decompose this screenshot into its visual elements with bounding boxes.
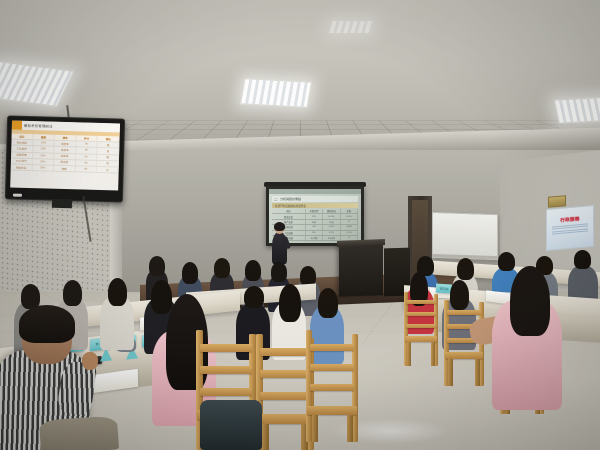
chair-slat xyxy=(310,384,354,391)
tv-cell: 良 xyxy=(97,161,119,167)
slide-cell: 36小時 xyxy=(323,236,340,240)
slide-band-text: 各部門年度績效指標彙整表 xyxy=(272,204,306,208)
attendee-hair xyxy=(182,262,198,284)
chair-leg xyxy=(312,415,318,442)
tv-cell: 20% xyxy=(33,140,55,146)
chair-slat xyxy=(200,388,252,396)
tv-cell: 考核項目 xyxy=(11,140,33,146)
attendee-hair xyxy=(457,258,474,280)
slide-cell: 項目 xyxy=(272,209,306,213)
tv-cell: 15% xyxy=(33,153,55,159)
attendee-hair xyxy=(318,288,338,318)
ceiling-light-panel xyxy=(554,96,600,123)
tv-cell: 可 xyxy=(97,167,119,173)
tv-cell: 85 xyxy=(76,148,98,154)
attendee-hair xyxy=(245,260,261,281)
tv-cell: 時數 xyxy=(54,166,76,172)
slide-cell: 實際達成 xyxy=(323,209,340,213)
tv-header-cell: 項目 xyxy=(12,134,34,140)
attendee-hair xyxy=(244,286,264,308)
slide-cell: 差異 xyxy=(341,209,358,213)
attendee-hair xyxy=(271,262,287,282)
attendee-hair xyxy=(19,305,75,343)
chair-slat xyxy=(406,312,436,316)
tv-cell: 學習成長 xyxy=(11,164,33,170)
tv-cell: 合格率 xyxy=(54,147,76,153)
slide-cell: 本期目標 xyxy=(306,209,323,213)
tv-header-cell: 備註 xyxy=(98,136,120,142)
chair-leg xyxy=(347,415,353,442)
tv-cell: 80 xyxy=(75,166,97,172)
slide-title-row: 二、分析與檢討重點 xyxy=(272,196,358,202)
tv-cell: 25% xyxy=(33,146,55,152)
tv-cell: 工作品質 xyxy=(11,146,33,152)
tv-cell: 配合度 xyxy=(54,159,76,165)
bag xyxy=(200,400,262,450)
ceiling-light-panel xyxy=(240,78,312,108)
slide-header-band xyxy=(269,189,361,194)
chair-slat xyxy=(406,324,436,328)
slide-cell: +2 xyxy=(341,220,358,224)
chair-leg xyxy=(407,342,411,366)
attendee-hair xyxy=(149,256,165,276)
chair-slat xyxy=(200,344,252,352)
chair-slat xyxy=(310,344,354,351)
tv-cell: 20% xyxy=(32,165,54,171)
slide-cell: 92分 xyxy=(323,220,340,224)
chair-seat xyxy=(445,352,483,359)
slide-cell: 9.1% xyxy=(323,231,340,235)
attendee-hair xyxy=(510,266,550,336)
tv-cell: 88 xyxy=(76,160,98,166)
ceiling-light-panel xyxy=(0,61,74,107)
tv-cell: 優 xyxy=(97,154,119,160)
chair-leg xyxy=(431,342,435,366)
slide-cell: -1.5% xyxy=(341,214,358,218)
slide-cell: 8% xyxy=(306,231,323,235)
attendee-hair xyxy=(279,284,301,322)
classroom-photo-scene: 績效考核管理辦法 項目 權重 標準 評分 備註 考核項目 20% 達成率 90 … xyxy=(0,0,600,450)
attendee-hair xyxy=(574,250,591,269)
attendee-hair xyxy=(214,258,230,278)
tv-slide-title: 績效考核管理辦法 xyxy=(12,123,53,129)
chair-slat xyxy=(310,364,354,371)
tv-screen: 績效考核管理辦法 項目 權重 標準 評分 備註 考核項目 20% 達成率 90 … xyxy=(10,121,120,191)
tv-cell: 出勤紀律 xyxy=(11,152,33,158)
slide-cell: 10.5% xyxy=(323,214,340,218)
wall-mounted-tv[interactable]: 績效考核管理辦法 項目 權重 標準 評分 備註 考核項目 20% 達成率 90 … xyxy=(5,115,125,202)
chair-leg xyxy=(448,359,453,386)
attendee-hair xyxy=(108,278,127,306)
tv-header-cell: 評分 xyxy=(76,135,98,141)
chair-leg xyxy=(262,424,269,450)
chair-leg xyxy=(475,359,480,386)
tv-wall-mount xyxy=(52,199,72,209)
chair-seat xyxy=(257,414,313,424)
slide-cell: 營收成長 xyxy=(272,214,306,218)
slide-cell: -5% xyxy=(306,225,323,229)
slide-cell: 12% xyxy=(306,214,323,218)
tv-cell: 20% xyxy=(32,159,54,165)
wall-poster: 行政服務 xyxy=(546,205,594,251)
wooden-chair[interactable] xyxy=(306,330,358,442)
slide-title-text: 二、分析與檢討重點 xyxy=(272,197,301,201)
chair-slat xyxy=(406,300,436,304)
tv-cell: 良 xyxy=(98,148,120,154)
presenter-podium[interactable] xyxy=(339,243,383,297)
chair-slat xyxy=(260,392,310,400)
slide-cell: 40小時 xyxy=(306,236,323,240)
tv-cell: 95 xyxy=(76,154,98,160)
slide-subtitle-band: 各部門年度績效指標彙整表 xyxy=(272,203,358,208)
wall-plaque xyxy=(548,195,566,208)
attendee-legs xyxy=(39,415,119,450)
tv-cell: team合作 xyxy=(11,158,33,164)
tv-cell: 90 xyxy=(76,141,98,147)
tv-power-led xyxy=(13,194,22,197)
whiteboard[interactable] xyxy=(432,212,498,260)
presenter-hair xyxy=(274,222,285,231)
slide-cell: 90分 xyxy=(306,220,323,224)
slide-cell: -1.1% xyxy=(341,231,358,235)
attendee-hair xyxy=(498,252,515,271)
slide-cell: +0.8% xyxy=(341,225,358,229)
ceiling-light-panel xyxy=(328,20,374,34)
tv-header-cell: 標準 xyxy=(55,135,77,141)
wooden-chair[interactable] xyxy=(404,292,438,366)
chair-slat xyxy=(260,370,310,378)
chair-slat xyxy=(447,310,481,315)
tv-cell: 優 xyxy=(98,142,120,148)
attendee-hair xyxy=(63,280,82,306)
chair-slat xyxy=(260,348,310,356)
attendee-hand xyxy=(82,352,98,370)
chair-seat xyxy=(307,406,357,415)
chair-slat xyxy=(200,366,252,374)
tv-cell: 出勤率 xyxy=(54,153,76,159)
slide-cell: -4.2% xyxy=(323,225,340,229)
tv-header-cell: 權重 xyxy=(33,134,55,140)
attendee-hair xyxy=(151,280,172,314)
tv-cell: 達成率 xyxy=(55,141,77,147)
